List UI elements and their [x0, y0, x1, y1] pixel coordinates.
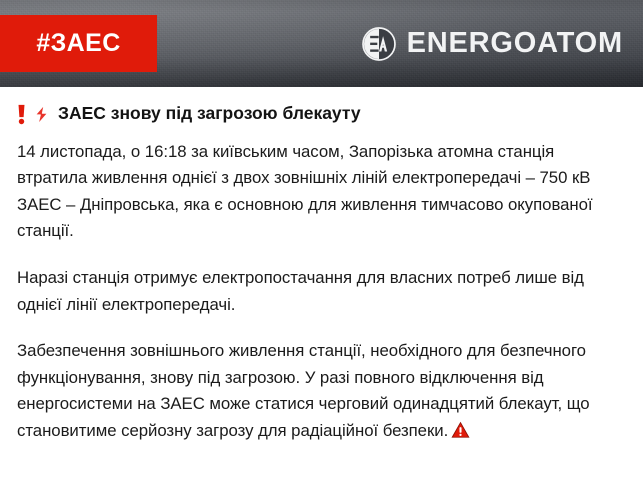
warning-triangle-icon: [451, 421, 470, 439]
post-headline: ЗАЕС знову під загрозою блекауту: [17, 103, 629, 125]
post-paragraph-text: Забезпечення зовнішнього живлення станці…: [17, 341, 590, 440]
high-voltage-bolt-icon: [33, 104, 51, 125]
red-exclamation-icon: [17, 104, 26, 125]
post-paragraph-last: Забезпечення зовнішнього живлення станці…: [17, 338, 629, 444]
post-banner: #ЗАЕС ENERGOATOM: [0, 0, 643, 87]
post-headline-text: ЗАЕС знову під загрозою блекауту: [58, 103, 361, 125]
brand-name-label: ENERGOATOM: [407, 29, 623, 58]
energoatom-ea-circle-icon: [362, 27, 396, 61]
post-paragraph: Наразі станція отримує електропостачання…: [17, 265, 629, 318]
hashtag-badge-label: #ЗАЕС: [36, 31, 120, 56]
post-paragraph: 14 листопада, о 16:18 за київським часом…: [17, 139, 629, 245]
hashtag-badge: #ЗАЕС: [0, 15, 157, 72]
post-content: ЗАЕС знову під загрозою блекауту 14 лист…: [0, 87, 643, 444]
brand-lockup: ENERGOATOM: [362, 0, 623, 87]
energoatom-post-card: #ЗАЕС ENERGOATOM: [0, 0, 643, 497]
